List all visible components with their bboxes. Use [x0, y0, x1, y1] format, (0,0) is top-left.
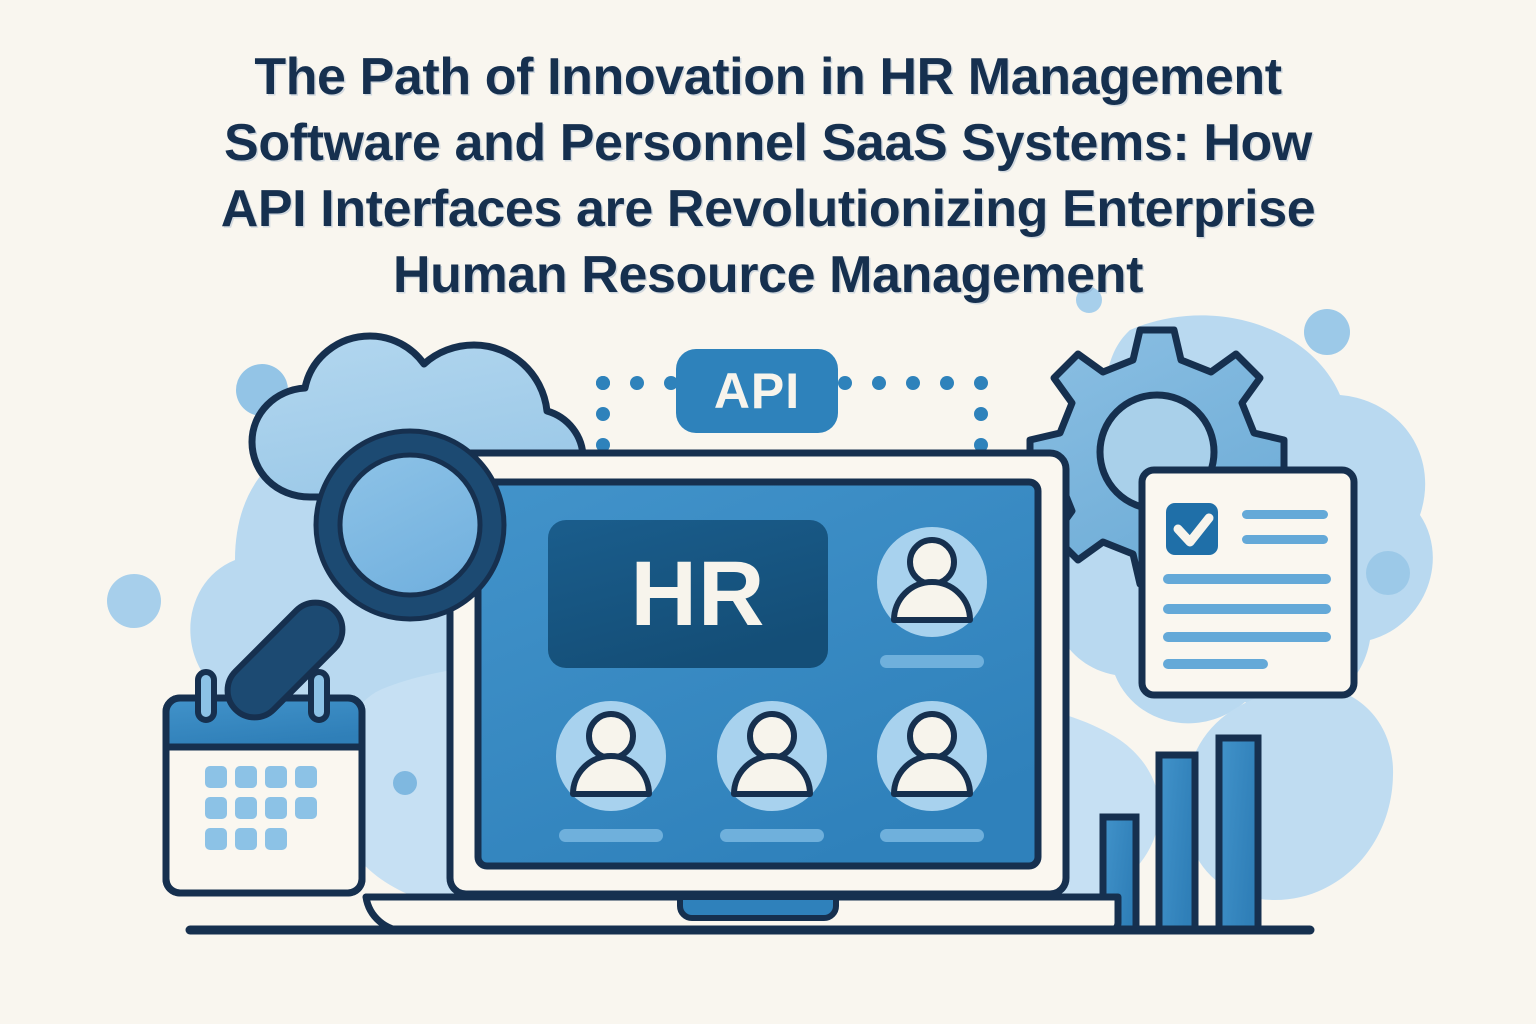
bar-3 — [1219, 738, 1258, 930]
document-checklist — [1142, 470, 1354, 695]
laptop-trackpad — [680, 897, 836, 918]
background-dot-2 — [107, 574, 161, 628]
doc-line-short-1 — [1242, 510, 1328, 519]
avatar-name-bar — [880, 829, 984, 842]
background-dot-5 — [1366, 551, 1410, 595]
api-badge[interactable] — [676, 349, 838, 433]
hr-panel — [548, 520, 828, 668]
avatar-name-bar — [880, 655, 984, 668]
bar-2 — [1159, 755, 1195, 930]
background-dot-6 — [1076, 287, 1102, 313]
calendar-ring-left — [198, 672, 214, 720]
avatar-name-bar — [720, 829, 824, 842]
illustration-canvas — [0, 0, 1536, 1024]
doc-line-short-2 — [1242, 535, 1328, 544]
doc-line-long-4 — [1163, 659, 1268, 669]
avatar-name-bar — [559, 829, 663, 842]
doc-line-long-1 — [1163, 574, 1331, 584]
doc-line-long-3 — [1163, 632, 1331, 642]
background-dot-4 — [1304, 309, 1350, 355]
background-dot-3 — [393, 771, 417, 795]
doc-line-long-2 — [1163, 604, 1331, 614]
calendar-ring-right — [311, 672, 327, 720]
illustration-poster: The Path of Innovation in HR Management … — [0, 0, 1536, 1024]
